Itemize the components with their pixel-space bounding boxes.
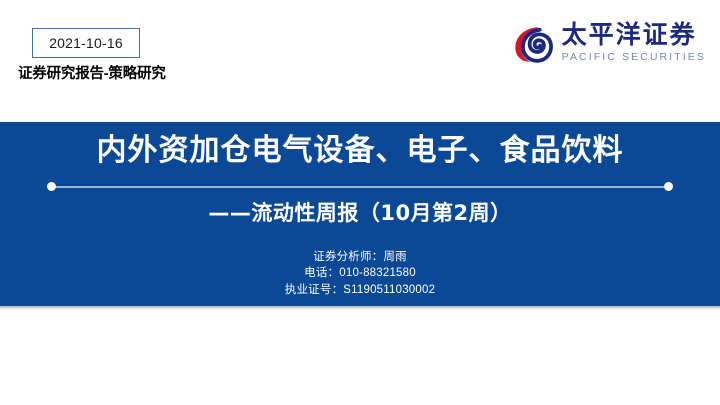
divider-dot-left [47, 182, 56, 191]
company-logo: 太平洋证券 PACIFIC SECURITIES [512, 20, 706, 68]
divider-line [52, 186, 668, 188]
analyst-phone-line: 电话：010-88321580 [0, 265, 720, 281]
analyst-name-line: 证券分析师：周雨 [0, 249, 720, 265]
title-divider [47, 182, 673, 192]
page-title: 内外资加仓电气设备、电子、食品饮料 [0, 131, 720, 172]
report-date-box: 2021-10-16 [32, 28, 140, 58]
analyst-license-line: 执业证号：S1190511030002 [0, 282, 720, 298]
banner-shadow [0, 306, 720, 313]
report-date: 2021-10-16 [49, 35, 123, 51]
analyst-info: 证券分析师：周雨 电话：010-88321580 执业证号：S119051103… [0, 249, 720, 298]
logo-name-en: PACIFIC SECURITIES [562, 50, 706, 66]
pacific-swirl-icon [512, 23, 554, 65]
divider-dot-right [664, 182, 673, 191]
page-subtitle: ——流动性周报（10月第2周） [0, 197, 720, 227]
logo-name-cn: 太平洋证券 [562, 22, 706, 48]
report-category-label: 证券研究报告-策略研究 [18, 62, 166, 83]
logo-wordmark: 太平洋证券 PACIFIC SECURITIES [562, 22, 706, 66]
document-header: 2021-10-16 证券研究报告-策略研究 太平洋证券 PACIFIC SEC… [0, 0, 720, 122]
